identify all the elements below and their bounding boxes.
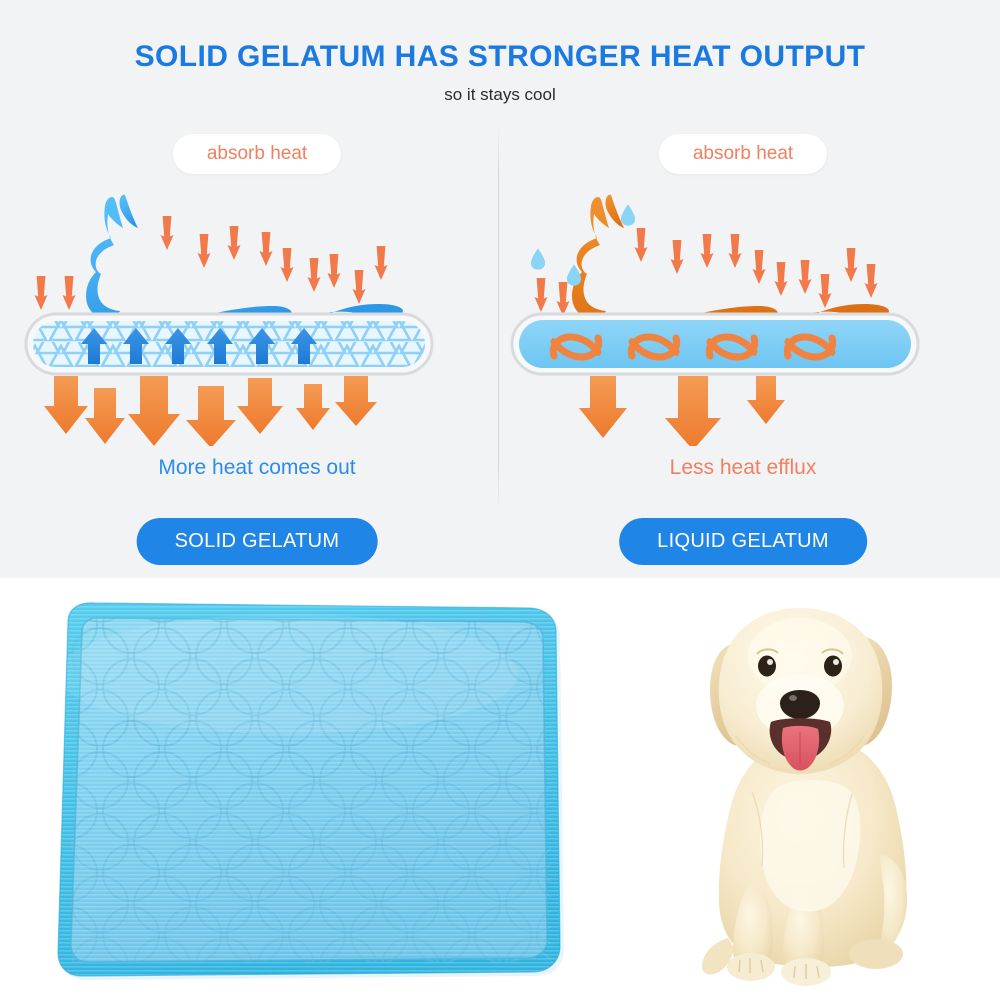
panel-solid-gelatum: absorb heat — [22, 126, 492, 566]
absorb-heat-badge-liquid: absorb heat — [659, 134, 827, 174]
absorb-heat-badge-solid: absorb heat — [173, 134, 341, 174]
panel-liquid-gelatum: absorb heat — [508, 126, 978, 566]
page-title: SOLID GELATUM HAS STRONGER HEAT OUTPUT — [0, 40, 1000, 74]
liquid-gelatum-diagram — [508, 186, 978, 446]
dog-silhouette-hot — [572, 195, 889, 326]
panel-divider — [498, 126, 499, 510]
product-photo-section — [0, 578, 1000, 1000]
product-infographic-page: SOLID GELATUM HAS STRONGER HEAT OUTPUT s… — [0, 0, 1000, 1000]
page-subtitle: so it stays cool — [0, 85, 1000, 105]
outgoing-heat-arrows-solid — [44, 376, 377, 446]
solid-gelatum-button[interactable]: SOLID GELATUM — [137, 518, 378, 565]
infographic-section: SOLID GELATUM HAS STRONGER HEAT OUTPUT s… — [0, 0, 1000, 578]
solid-gelatum-diagram — [22, 186, 492, 446]
dog-silhouette-cool — [86, 195, 403, 326]
golden-retriever-puppy-photo — [640, 586, 990, 1000]
caption-less-heat-efflux: Less heat efflux — [508, 456, 978, 480]
liquid-gelatum-button[interactable]: LIQUID GELATUM — [619, 518, 867, 565]
outgoing-heat-arrows-liquid — [579, 376, 785, 446]
caption-more-heat-out: More heat comes out — [22, 456, 492, 480]
cooling-mat-photo — [38, 594, 578, 986]
